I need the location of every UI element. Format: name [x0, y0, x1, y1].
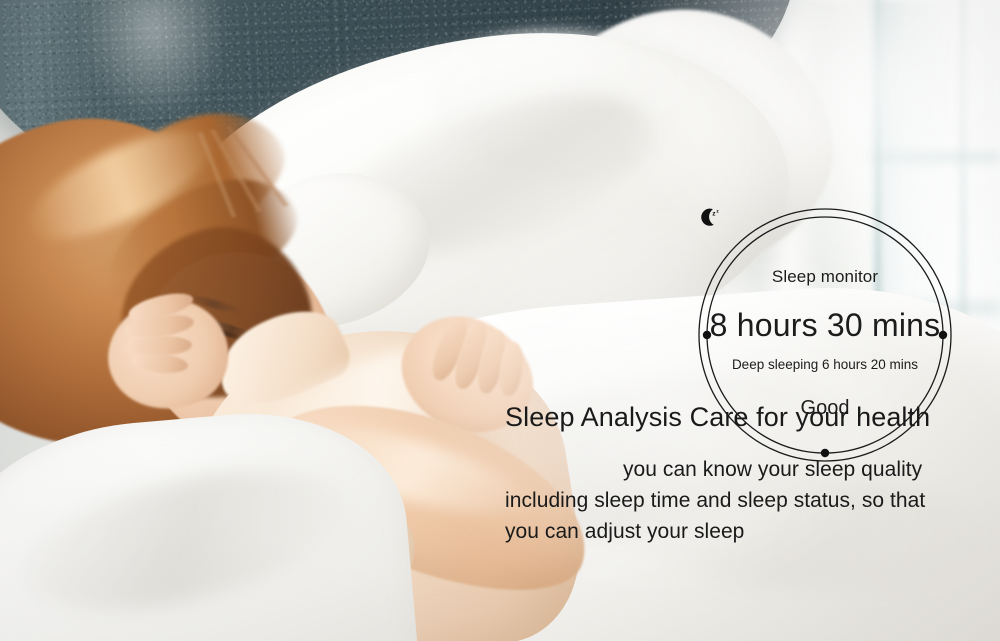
svg-text:z: z [716, 210, 719, 215]
headline: Sleep Analysis Care for your health [505, 398, 965, 436]
dial-sleep-duration: 8 hours 30 mins [697, 307, 953, 344]
sleep-analysis-banner: z z Sleep monitor 8 hours 30 mins Deep s… [0, 0, 1000, 641]
body-copy: you can know your sleep quality includin… [505, 454, 965, 547]
body-line-2: including sleep time and sleep status, s… [505, 485, 965, 516]
body-line-1: you can know your sleep quality [623, 458, 922, 481]
moon-zzz-icon: z z [697, 207, 723, 233]
headline-line-1: Sleep Analysis [505, 402, 682, 432]
marketing-copy: Sleep Analysis Care for your health you … [505, 398, 965, 548]
body-line-1-wrap: you can know your sleep quality [505, 454, 965, 485]
dial-deep-sleep: Deep sleeping 6 hours 20 mins [697, 357, 953, 372]
dial-title: Sleep monitor [697, 267, 953, 287]
body-line-3: you can adjust your sleep [505, 516, 965, 547]
headline-line-2: Care for your health [690, 402, 931, 432]
